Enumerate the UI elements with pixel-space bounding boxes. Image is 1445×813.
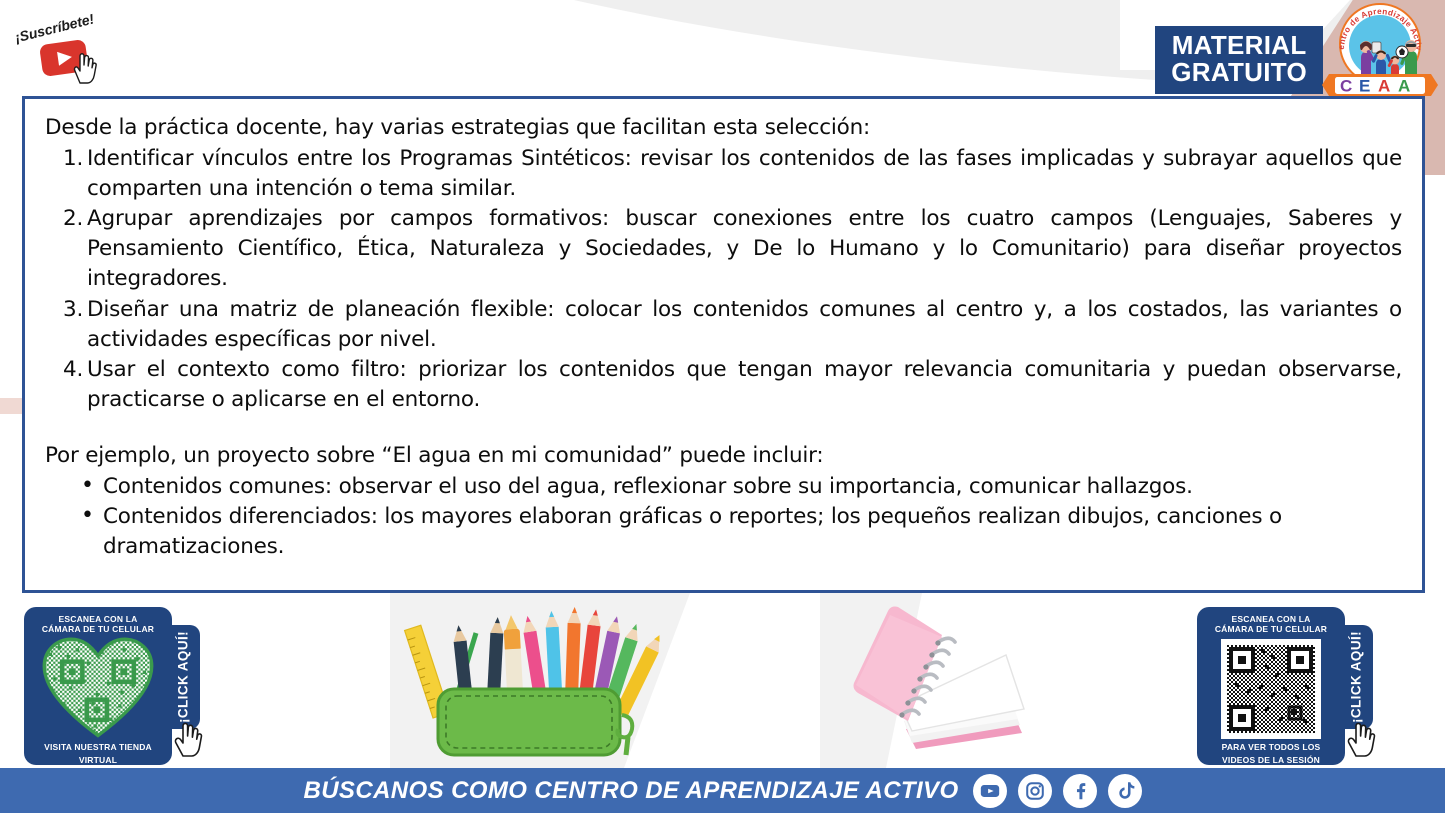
qr-title-line2: CÁMARA DE TU CELULAR: [30, 624, 166, 634]
example-list: Contenidos comunes: observar el uso del …: [77, 472, 1402, 562]
list-item: Usar el contexto como filtro: priorizar …: [63, 355, 1402, 415]
list-item: Diseñar una matriz de planeación flexibl…: [63, 295, 1402, 355]
click-here-label: ¡CLICK AQUÍ!: [1349, 631, 1364, 723]
intro-paragraph: Desde la práctica docente, hay varias es…: [45, 113, 1402, 143]
logo-letter-e: E: [1359, 77, 1370, 96]
qr-title-line1: ESCANEA CON LA: [30, 614, 166, 624]
qr-title-line1: ESCANEA CON LA: [1203, 614, 1339, 624]
pencil-case-illustration: [398, 593, 660, 765]
pointing-hand-icon: [72, 50, 98, 84]
social-links: [973, 774, 1142, 808]
pointing-hand-icon: [172, 719, 206, 757]
logo-letter-a2: A: [1398, 77, 1410, 96]
example-paragraph: Por ejemplo, un proyecto sobre “El agua …: [45, 441, 1402, 471]
logo-letter-c: C: [1340, 77, 1352, 96]
footer-text: BÚSCANOS COMO CENTRO DE APRENDIZAJE ACTI…: [303, 777, 958, 805]
qr-sub-line1: VISITA NUESTRA TIENDA: [30, 742, 166, 752]
qr-panel-right: ESCANEA CON LA CÁMARA DE TU CELULAR: [1197, 607, 1345, 765]
qr-sub-line2: VIDEOS DE LA SESIÓN: [1203, 755, 1339, 765]
pointing-hand-icon: [1345, 719, 1379, 757]
tiktok-icon[interactable]: [1108, 774, 1142, 808]
material-gratuito-badge: MATERIAL GRATUITO: [1155, 26, 1323, 94]
content-box: Desde la práctica docente, hay varias es…: [22, 96, 1425, 593]
qr-sub-line2: VIRTUAL: [30, 755, 166, 765]
slide-canvas: ¡Suscríbete! MATERIAL GRATUITO Centro de…: [0, 0, 1445, 813]
material-badge-line1: MATERIAL: [1171, 32, 1307, 59]
qr-title-line2: CÁMARA DE TU CELULAR: [1203, 624, 1339, 634]
ceaa-logo: Centro de Aprendizaje Activo: [1321, 2, 1439, 98]
material-badge-line2: GRATUITO: [1171, 59, 1307, 86]
body-text: Desde la práctica docente, hay varias es…: [45, 113, 1402, 562]
list-item: Contenidos comunes: observar el uso del …: [77, 472, 1402, 502]
qr-panel-left: ESCANEA CON LA CÁMARA DE TU CELULAR: [24, 607, 172, 765]
list-item: Identificar vínculos entre los Programas…: [63, 144, 1402, 204]
footer-bar: BÚSCANOS COMO CENTRO DE APRENDIZAJE ACTI…: [0, 768, 1445, 813]
qr-code-square[interactable]: [1215, 637, 1327, 740]
notebook-illustration: [838, 597, 1036, 761]
paragraph-spacer: [45, 415, 1402, 441]
click-here-label: ¡CLICK AQUÍ!: [176, 631, 191, 723]
qr-card-videos[interactable]: ¡CLICK AQUÍ! ESCANEA CON LA CÁMARA DE TU…: [1197, 607, 1385, 765]
strategies-list: Identificar vínculos entre los Programas…: [63, 144, 1402, 415]
qr-code-heart[interactable]: [42, 637, 154, 740]
logo-letter-a1: A: [1378, 77, 1390, 96]
qr-sub-line1: PARA VER TODOS LOS: [1203, 742, 1339, 752]
subscribe-badge[interactable]: ¡Suscríbete!: [10, 12, 130, 92]
instagram-icon[interactable]: [1018, 774, 1052, 808]
subscribe-label: ¡Suscríbete!: [13, 10, 95, 45]
facebook-icon[interactable]: [1063, 774, 1097, 808]
youtube-icon[interactable]: [973, 774, 1007, 808]
list-item: Contenidos diferenciados: los mayores el…: [77, 502, 1402, 562]
qr-card-tienda[interactable]: ¡CLICK AQUÍ! ESCANEA CON LA CÁMARA DE TU…: [24, 607, 212, 765]
list-item: Agrupar aprendizajes por campos formativ…: [63, 204, 1402, 294]
